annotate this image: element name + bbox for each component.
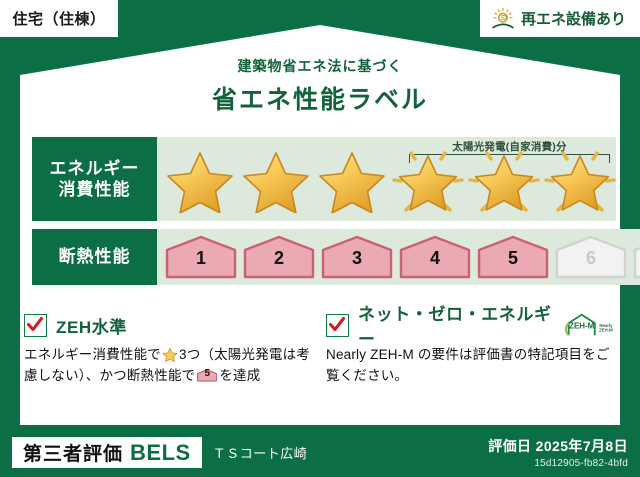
building-name: ＴＳコート広崎: [213, 443, 308, 462]
star-icon: [164, 145, 236, 213]
check-icon: [26, 315, 44, 334]
insulation-performance-label: 断熱性能: [32, 229, 157, 285]
grade-badge-inactive: 7: [633, 235, 640, 279]
zeh-checkbox: [24, 314, 47, 337]
grade-badge: 3: [321, 235, 393, 279]
inline-star-icon: [162, 346, 178, 362]
nze-checkbox: [326, 314, 349, 337]
renewable-badge-label: 再エネ設備あり: [521, 8, 626, 29]
svg-text:ZEH-M: ZEH-M: [599, 328, 613, 333]
energy-label-root: 住宅（住棟） 再エネ設備あり 建築物省エネ法に基づく 省エネ性能ラベル: [0, 0, 640, 477]
label-title-block: 建築物省エネ法に基づく 省エネ性能ラベル: [0, 56, 640, 116]
building-type-label: 住宅（住棟）: [12, 8, 105, 29]
star-rating: [157, 145, 616, 213]
zeh-statement-header: ZEH水準: [24, 312, 314, 338]
evaluation-id: 15d12905-fb82-4bfd: [488, 458, 628, 469]
star-item-solar: [392, 145, 464, 213]
zeh-level-statement: ZEH水準 エネルギー消費性能で3つ（太陽光発電は考慮しない）、かつ断熱性能で5…: [24, 312, 314, 404]
zeh-m-logo-icon: ZEH-M Nearly ZEH-M: [564, 312, 616, 338]
insulation-performance-row: 断熱性能 1 2: [32, 229, 608, 285]
energy-performance-label: エネルギー 消費性能: [32, 137, 157, 221]
zeh-body-part3: を達成: [219, 368, 260, 383]
evaluation-info: 評価日 2025年7月8日 15d12905-fb82-4bfd: [488, 436, 628, 469]
bels-certification-badge: 第三者評価 BELS: [12, 437, 202, 468]
bels-jp-label: 第三者評価: [23, 439, 123, 466]
renewable-equipment-badge: 再エネ設備あり: [480, 0, 640, 37]
grade-number: 6: [555, 248, 627, 269]
grade-number: 3: [321, 248, 393, 269]
metric-rows: エネルギー 消費性能 太陽光発電(自家消費)分: [32, 137, 608, 285]
star-item: [316, 145, 388, 213]
star-item-solar: [468, 145, 540, 213]
star-item: [164, 145, 236, 213]
star-solar-icon: [544, 145, 616, 213]
insulation-grade-scale: 1 2 3: [157, 235, 640, 279]
svg-text:ZEH-M: ZEH-M: [569, 322, 594, 331]
grade-number: 5: [477, 248, 549, 269]
grade-number: 7: [633, 248, 640, 269]
check-icon: [328, 315, 346, 334]
bels-en-label: BELS: [130, 440, 191, 466]
energy-performance-body: 太陽光発電(自家消費)分: [157, 137, 616, 221]
insulation-label-text: 断熱性能: [59, 246, 131, 267]
star-icon: [240, 145, 312, 213]
grade-badge: 5: [477, 235, 549, 279]
zeh-body-part1: エネルギー消費性能で: [24, 347, 161, 362]
label-footer: 第三者評価 BELS ＴＳコート広崎 評価日 2025年7月8日 15d1290…: [0, 428, 640, 477]
nze-statement-header: ネット・ゼロ・エネルギー ZEH-M Nearly ZEH-M: [326, 312, 616, 338]
evaluation-date: 評価日 2025年7月8日: [488, 436, 628, 456]
grade-number: 4: [399, 248, 471, 269]
inline-grade-number: 5: [197, 369, 217, 379]
energy-label-line1: エネルギー: [50, 158, 140, 179]
nze-statement-body: Nearly ZEH-M の要件は評価書の特記項目をご覧ください。: [326, 345, 616, 387]
star-item-solar: [544, 145, 616, 213]
inline-grade-badge: 5: [197, 367, 217, 384]
net-zero-energy-statement: ネット・ゼロ・エネルギー ZEH-M Nearly ZEH-M Nearly Z…: [326, 312, 616, 404]
nze-statement-title: ネット・ゼロ・エネルギー: [358, 300, 555, 350]
star-item: [240, 145, 312, 213]
grade-badge-inactive: 6: [555, 235, 627, 279]
grade-number: 1: [165, 248, 237, 269]
grade-badge: 1: [165, 235, 237, 279]
energy-label-line2: 消費性能: [59, 179, 131, 200]
zeh-statement-body: エネルギー消費性能で3つ（太陽光発電は考慮しない）、かつ断熱性能で5を達成: [24, 345, 314, 387]
grade-badge: 4: [399, 235, 471, 279]
grade-badge: 2: [243, 235, 315, 279]
certification-statements: ZEH水準 エネルギー消費性能で3つ（太陽光発電は考慮しない）、かつ断熱性能で5…: [24, 312, 616, 404]
star-icon: [316, 145, 388, 213]
title-subtitle: 建築物省エネ法に基づく: [0, 56, 640, 76]
building-type-tag: 住宅（住棟）: [0, 0, 118, 37]
star-solar-icon: [468, 145, 540, 213]
energy-performance-row: エネルギー 消費性能 太陽光発電(自家消費)分: [32, 137, 608, 221]
grade-number: 2: [243, 248, 315, 269]
sun-solar-icon: [490, 7, 516, 31]
page-title: 省エネ性能ラベル: [0, 80, 640, 116]
insulation-performance-body: 1 2 3: [157, 229, 640, 285]
star-solar-icon: [392, 145, 464, 213]
zeh-statement-title: ZEH水準: [56, 313, 127, 338]
